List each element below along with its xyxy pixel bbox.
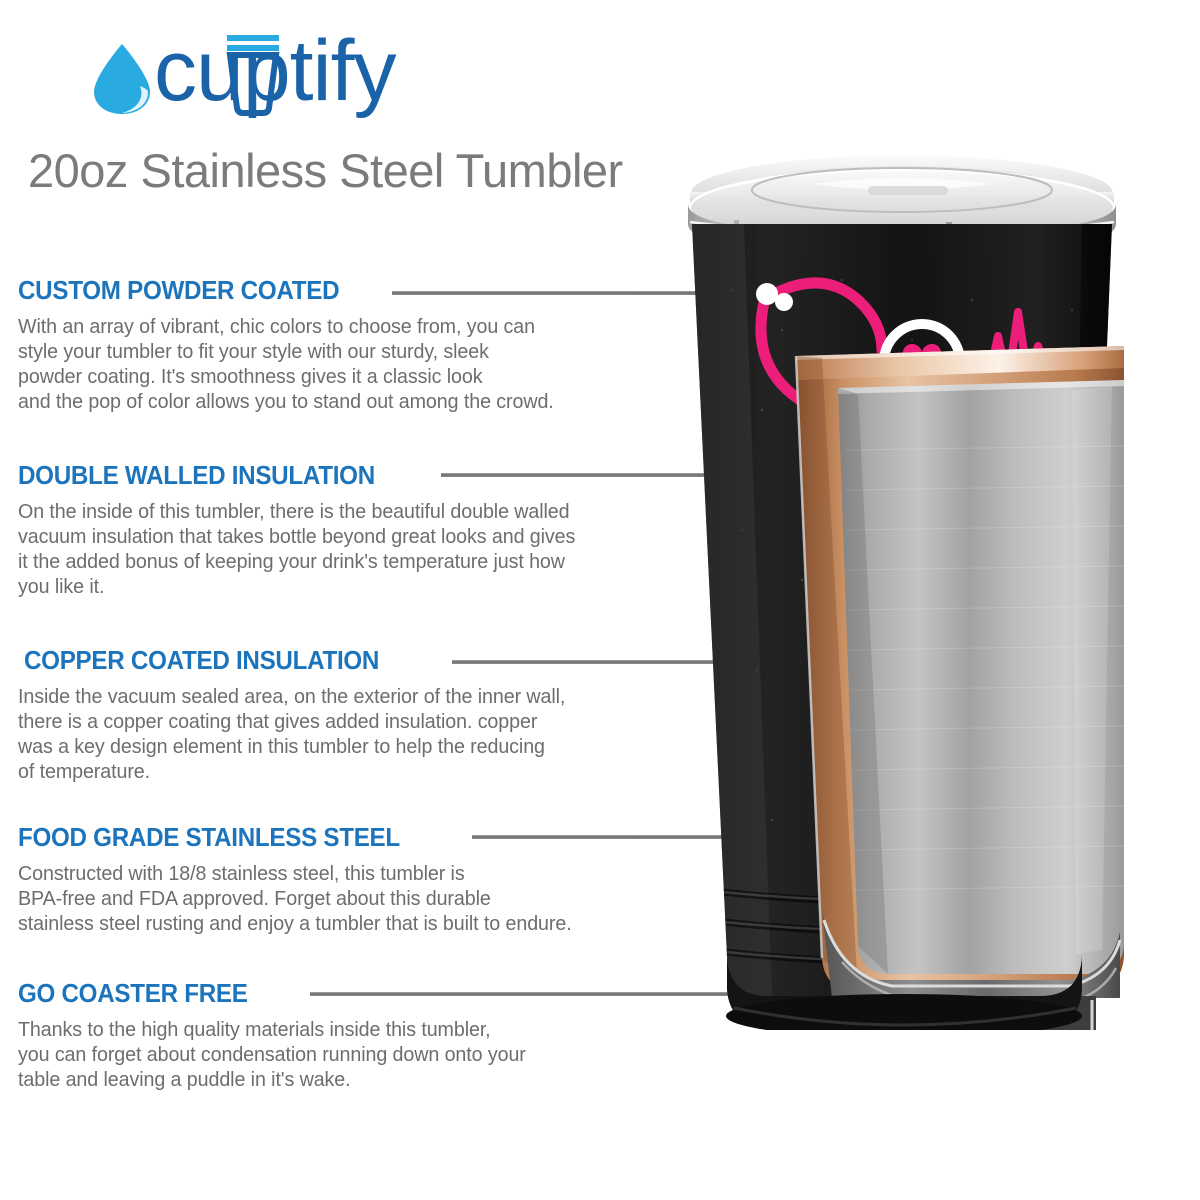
infographic-page: cuptify 20oz Stainless Steel Tumbler CUS… (0, 0, 1200, 1200)
feature-body-line: powder coating. It's smoothness gives it… (18, 364, 652, 389)
feature-body-line: was a key design element in this tumbler… (18, 734, 652, 759)
feature-body-line: Thanks to the high quality materials ins… (18, 1017, 652, 1042)
brand-logo: cuptify (92, 26, 612, 116)
tumbler-product-image (672, 150, 1132, 1030)
feature-body: On the inside of this tumbler, there is … (18, 499, 652, 599)
feature-body: Thanks to the high quality materials ins… (18, 1017, 652, 1092)
feature-custom-powder-coated: CUSTOM POWDER COATED With an array of vi… (18, 275, 678, 414)
feature-body-line: Constructed with 18/8 stainless steel, t… (18, 861, 652, 886)
feature-copper-coated-insulation: COPPER COATED INSULATION Inside the vacu… (18, 645, 678, 784)
feature-body-line: you like it. (18, 574, 652, 599)
water-drop-icon (92, 42, 152, 116)
feature-body-line: of temperature. (18, 759, 652, 784)
feature-body-line: table and leaving a puddle in it's wake. (18, 1067, 652, 1092)
feature-body-line: style your tumbler to fit your style wit… (18, 339, 652, 364)
feature-body-line: On the inside of this tumbler, there is … (18, 499, 652, 524)
feature-body-line: it the added bonus of keeping your drink… (18, 549, 652, 574)
stainless-steel-inner-wall (838, 380, 1124, 974)
feature-body-line: Inside the vacuum sealed area, on the ex… (18, 684, 652, 709)
page-title: 20oz Stainless Steel Tumbler (28, 143, 623, 198)
feature-body-line: and the pop of color allows you to stand… (18, 389, 652, 414)
feature-body: Inside the vacuum sealed area, on the ex… (18, 684, 652, 784)
feature-body-line: BPA-free and FDA approved. Forget about … (18, 886, 652, 911)
feature-body-line: you can forget about condensation runnin… (18, 1042, 652, 1067)
feature-body-line: With an array of vibrant, chic colors to… (18, 314, 652, 339)
feature-body: Constructed with 18/8 stainless steel, t… (18, 861, 652, 936)
feature-body: With an array of vibrant, chic colors to… (18, 314, 652, 414)
feature-body-line: vacuum insulation that takes bottle beyo… (18, 524, 652, 549)
feature-double-walled-insulation: DOUBLE WALLED INSULATION On the inside o… (18, 460, 678, 599)
feature-heading: CUSTOM POWDER COATED (18, 275, 632, 305)
feature-body-line: there is a copper coating that gives add… (18, 709, 652, 734)
feature-body-line: stainless steel rusting and enjoy a tumb… (18, 911, 652, 936)
feature-food-grade-stainless-steel: FOOD GRADE STAINLESS STEEL Constructed w… (18, 822, 678, 936)
cup-icon (222, 32, 284, 116)
